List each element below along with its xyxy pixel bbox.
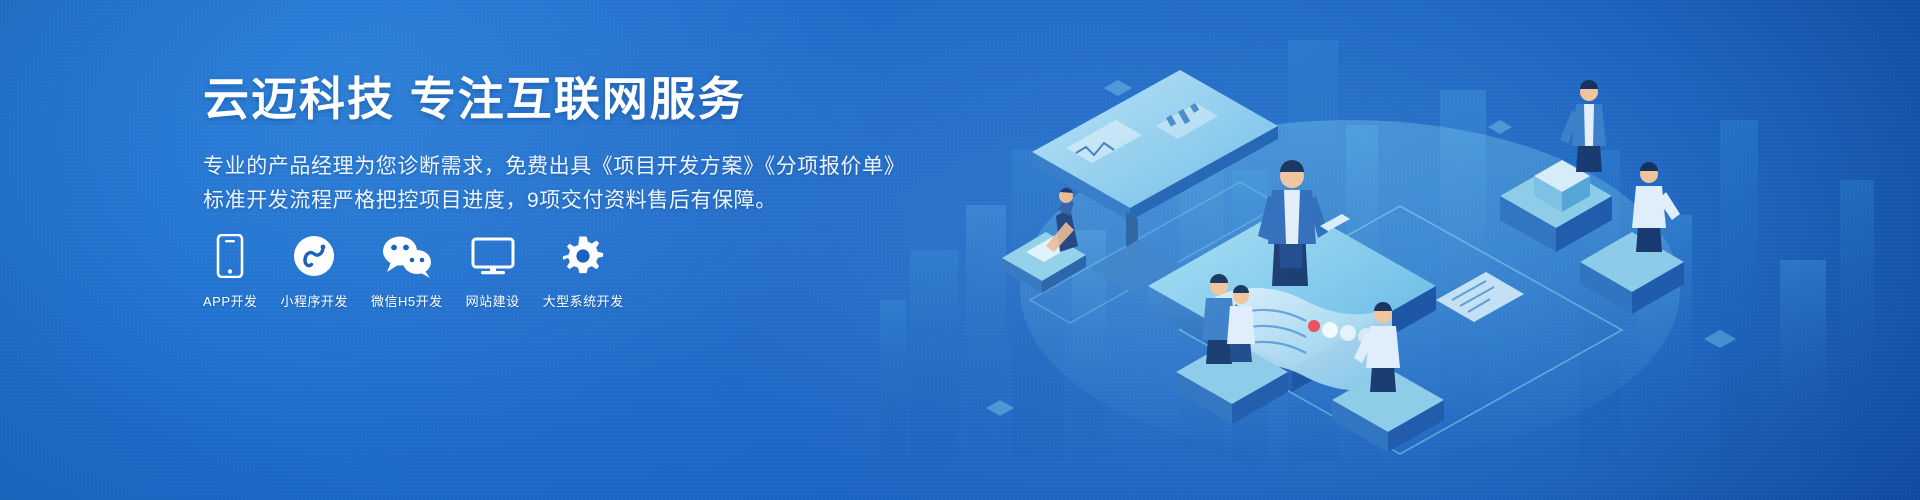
service-list: APP开发 小程序开发 xyxy=(203,234,624,310)
page-title: 云迈科技 专注互联网服务 xyxy=(203,72,903,126)
service-label: APP开发 xyxy=(203,291,258,310)
hero-copy: 云迈科技 专注互联网服务 专业的产品经理为您诊断需求，免费出具《项目开发方案》《… xyxy=(203,72,903,218)
mini-program-icon xyxy=(293,234,335,278)
service-item-app[interactable]: APP开发 xyxy=(203,234,258,310)
service-label: 网站建设 xyxy=(466,291,520,310)
hero-banner: 云迈科技 专注互联网服务 专业的产品经理为您诊断需求，免费出具《项目开发方案》《… xyxy=(0,0,1920,500)
isometric-illustration xyxy=(880,0,1920,500)
service-label: 小程序开发 xyxy=(281,291,349,310)
service-label: 微信H5开发 xyxy=(371,291,443,310)
smartphone-icon xyxy=(216,234,244,278)
service-item-website[interactable]: 网站建设 xyxy=(466,234,520,310)
subtitle-line-1: 专业的产品经理为您诊断需求，免费出具《项目开发方案》《分项报价单》 xyxy=(203,150,903,184)
service-item-mini-program[interactable]: 小程序开发 xyxy=(281,234,349,310)
hero-subtitle: 专业的产品经理为您诊断需求，免费出具《项目开发方案》《分项报价单》 标准开发流程… xyxy=(203,150,903,218)
subtitle-line-2: 标准开发流程严格把控项目进度，9项交付资料售后有保障。 xyxy=(203,184,903,218)
service-label: 大型系统开发 xyxy=(543,291,624,310)
wechat-icon xyxy=(381,234,433,278)
monitor-icon xyxy=(471,234,515,278)
service-item-large-system[interactable]: 大型系统开发 xyxy=(543,234,624,310)
gear-icon xyxy=(561,234,605,278)
service-item-wechat-h5[interactable]: 微信H5开发 xyxy=(371,234,443,310)
